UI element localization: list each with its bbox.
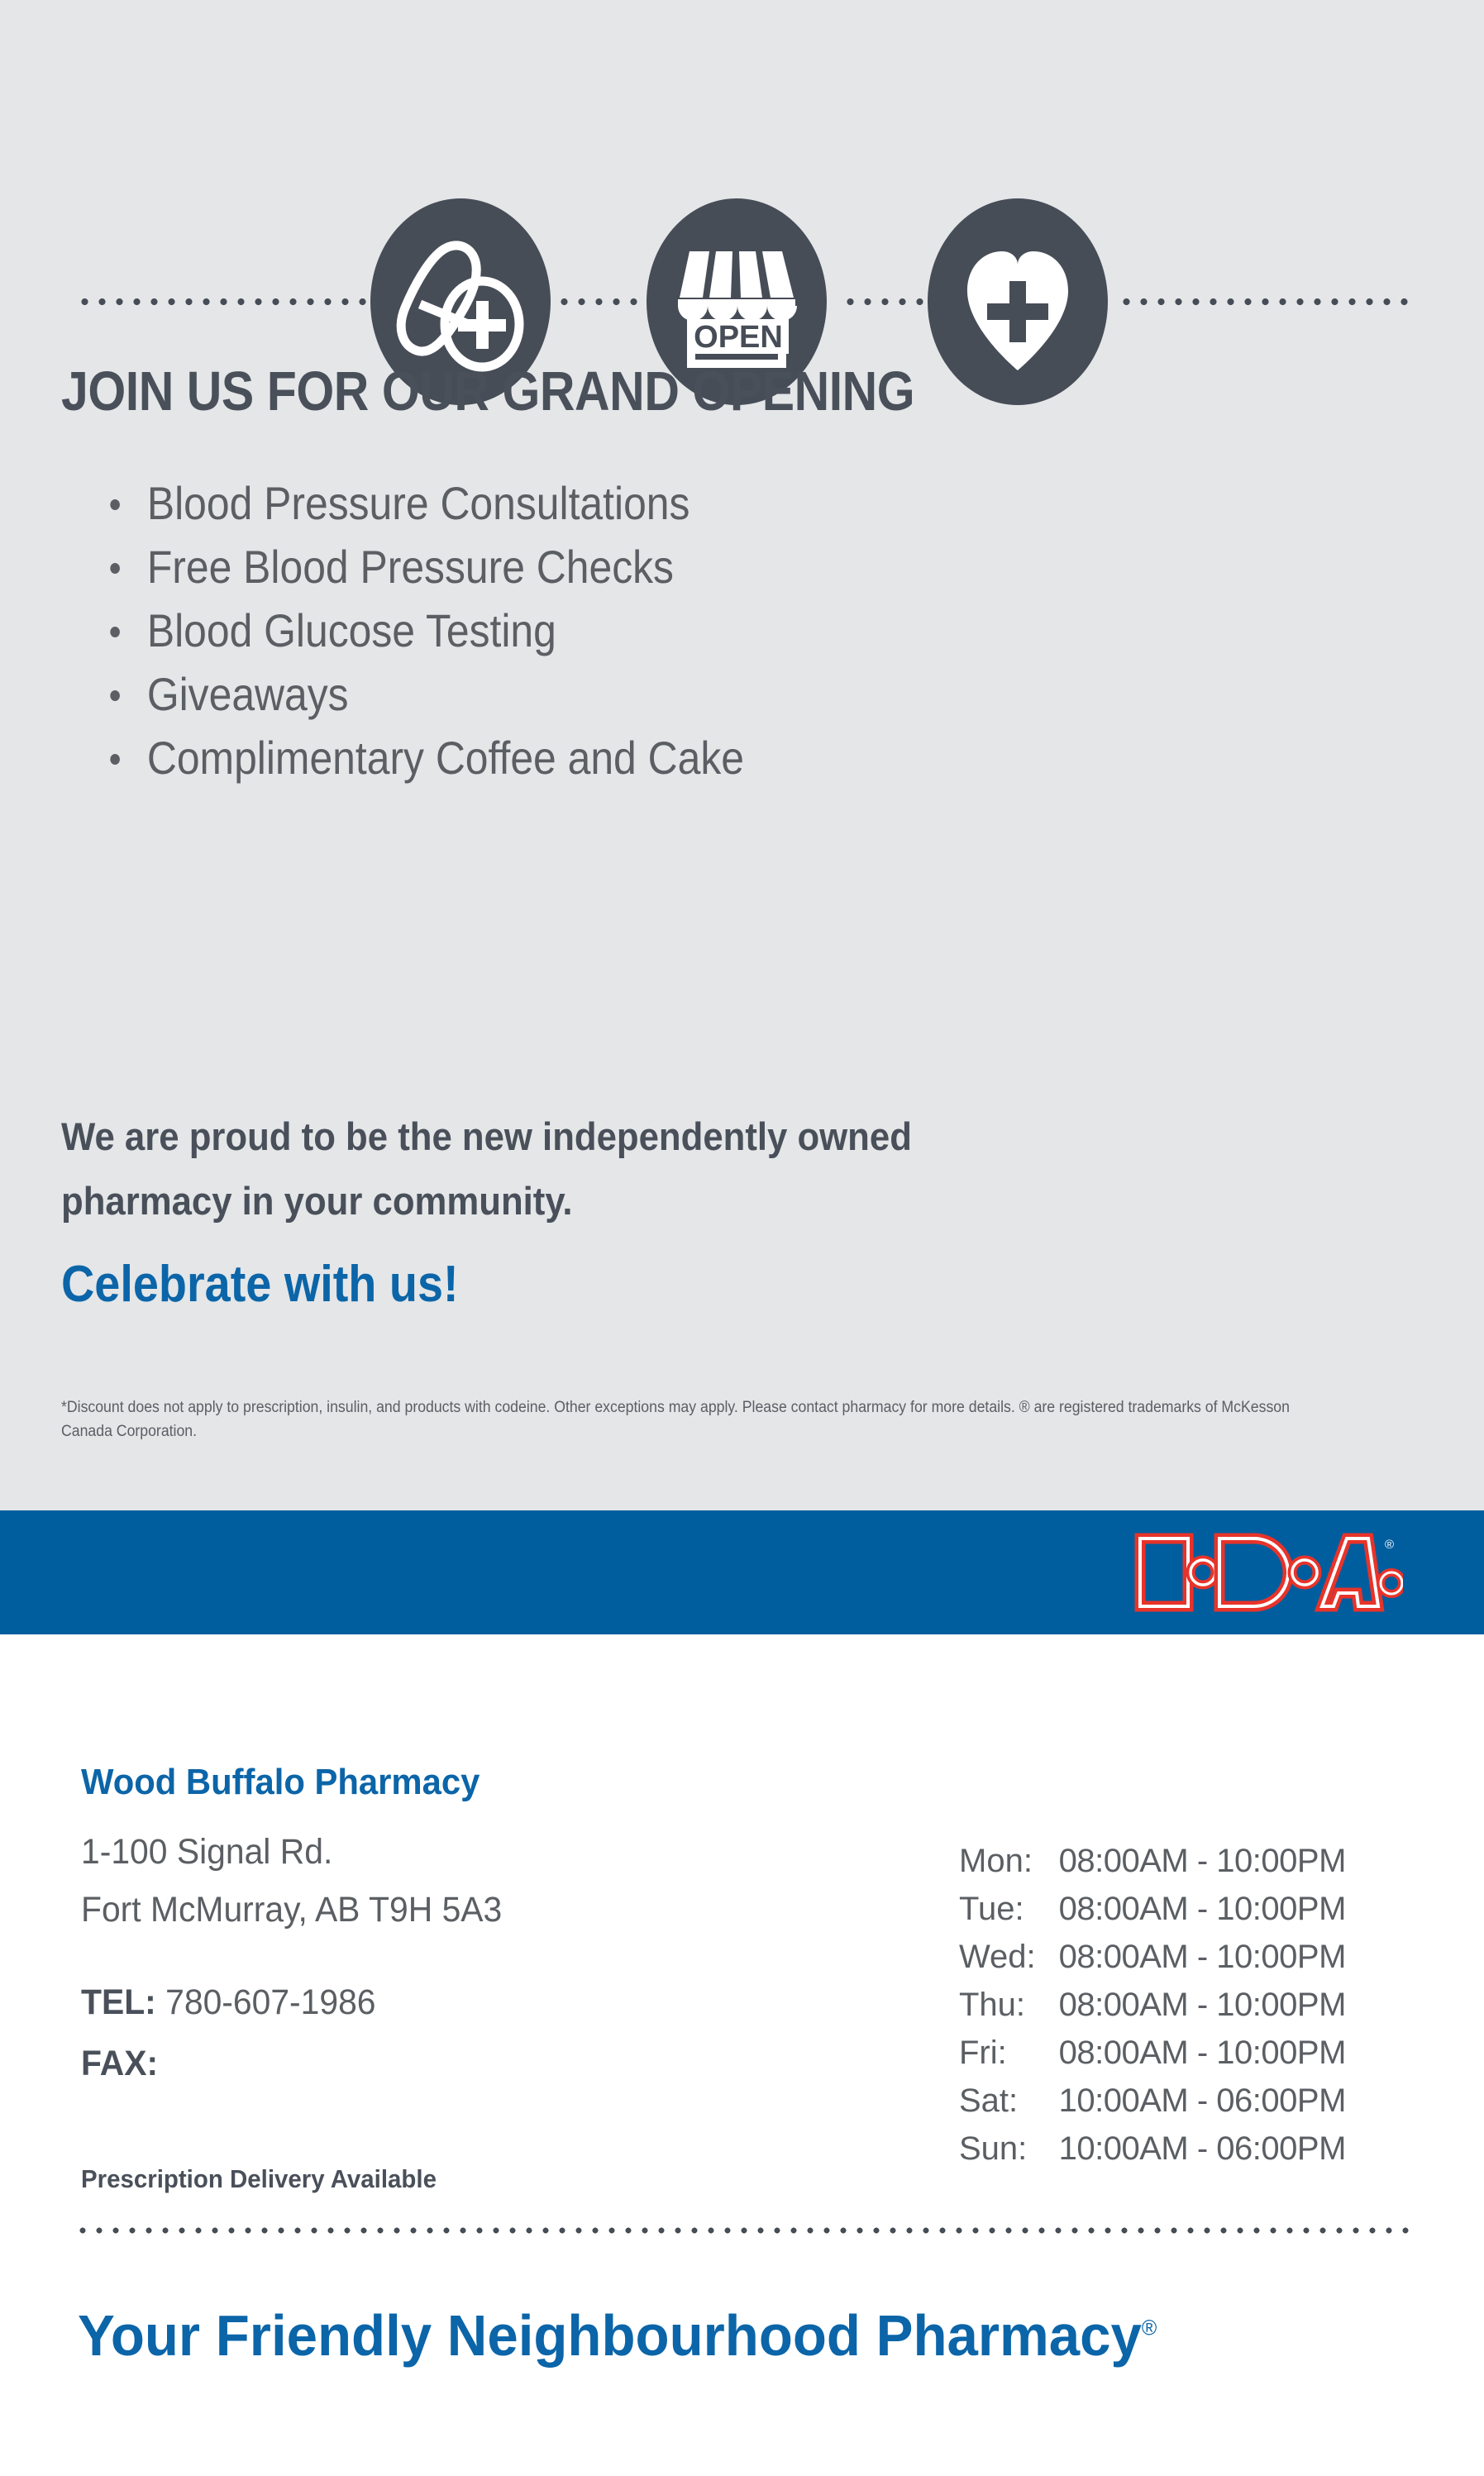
- fax-row: FAX:: [81, 2033, 376, 2094]
- address-line-1: 1-100 Signal Rd.: [81, 1823, 502, 1881]
- store-address: 1-100 Signal Rd. Fort McMurray, AB T9H 5…: [81, 1823, 502, 1939]
- proud-line-2: pharmacy in your community.: [61, 1169, 1261, 1233]
- list-item: Giveaways: [106, 662, 1136, 726]
- hours-day: Sun:: [959, 2125, 1059, 2173]
- registered-mark: ®: [1385, 1538, 1394, 1552]
- delivery-note: Prescription Delivery Available: [81, 2166, 437, 2192]
- hours-day: Sat:: [959, 2077, 1059, 2125]
- hours-range: 10:00AM - 06:00PM: [1059, 2125, 1346, 2173]
- hours-range: 08:00AM - 10:00PM: [1059, 1981, 1346, 2029]
- dotted-line-segment: [556, 296, 656, 308]
- hours-day: Mon:: [959, 1837, 1059, 1885]
- hours-day: Fri:: [959, 2029, 1059, 2077]
- tel-value: 780-607-1986: [165, 1982, 375, 2022]
- table-row: Mon: 08:00AM - 10:00PM: [959, 1837, 1346, 1885]
- hours-day: Tue:: [959, 1885, 1059, 1933]
- store-name: Wood Buffalo Pharmacy: [81, 1764, 480, 1801]
- offerings-list: Blood Pressure Consultations Free Blood …: [106, 471, 1263, 790]
- fax-label: FAX:: [81, 2044, 158, 2083]
- dotted-line-segment: [76, 296, 374, 308]
- hours-range: 10:00AM - 06:00PM: [1059, 2077, 1346, 2125]
- telephone-row: TEL: 780-607-1986: [81, 1972, 376, 2033]
- hours-range: 08:00AM - 10:00PM: [1059, 1885, 1346, 1933]
- table-row: Tue: 08:00AM - 10:00PM: [959, 1885, 1346, 1933]
- contact-numbers: TEL: 780-607-1986 FAX:: [81, 1972, 376, 2094]
- list-item: Blood Pressure Consultations: [106, 471, 1136, 535]
- brand-band: ®: [0, 1510, 1484, 1634]
- open-sign-text: OPEN: [694, 320, 783, 355]
- hours-day: Thu:: [959, 1981, 1059, 2029]
- hours-day: Wed:: [959, 1933, 1059, 1981]
- disclaimer-text: *Discount does not apply to prescription…: [61, 1395, 1322, 1443]
- dotted-divider: [74, 2226, 1414, 2235]
- dotted-line-segment: [1118, 296, 1415, 308]
- tagline-text: Your Friendly Neighbourhood Pharmacy: [78, 2303, 1142, 2368]
- table-row: Thu: 08:00AM - 10:00PM: [959, 1981, 1346, 2029]
- table-row: Sun: 10:00AM - 06:00PM: [959, 2125, 1346, 2173]
- hours-range: 08:00AM - 10:00PM: [1059, 1933, 1346, 1981]
- table-row: Fri: 08:00AM - 10:00PM: [959, 2029, 1346, 2077]
- tagline: Your Friendly Neighbourhood Pharmacy®: [78, 2307, 1157, 2364]
- list-item: Free Blood Pressure Checks: [106, 535, 1136, 599]
- table-row: Wed: 08:00AM - 10:00PM: [959, 1933, 1346, 1981]
- tagline-registered-mark: ®: [1142, 2316, 1157, 2340]
- proud-line-1: We are proud to be the new independently…: [61, 1104, 1261, 1169]
- table-row: Sat: 10:00AM - 06:00PM: [959, 2077, 1346, 2125]
- page-title: JOIN US FOR OUR GRAND OPENING: [61, 364, 1225, 419]
- flyer-page: OPEN JOIN US FOR OUR GRAND OPENING Blood…: [0, 0, 1484, 2476]
- address-line-2: Fort McMurray, AB T9H 5A3: [81, 1881, 502, 1939]
- proud-statement: We are proud to be the new independently…: [61, 1104, 1261, 1233]
- store-hours-table: Mon: 08:00AM - 10:00PM Tue: 08:00AM - 10…: [959, 1837, 1346, 2173]
- hours-range: 08:00AM - 10:00PM: [1059, 2029, 1346, 2077]
- icon-strip: OPEN: [0, 99, 1484, 306]
- hours-range: 08:00AM - 10:00PM: [1059, 1837, 1346, 1885]
- list-item: Blood Glucose Testing: [106, 599, 1136, 662]
- celebrate-heading: Celebrate with us!: [61, 1259, 459, 1310]
- tel-label: TEL:: [81, 1982, 156, 2022]
- list-item: Complimentary Coffee and Cake: [106, 726, 1136, 790]
- ida-logo: ®: [1130, 1527, 1403, 1618]
